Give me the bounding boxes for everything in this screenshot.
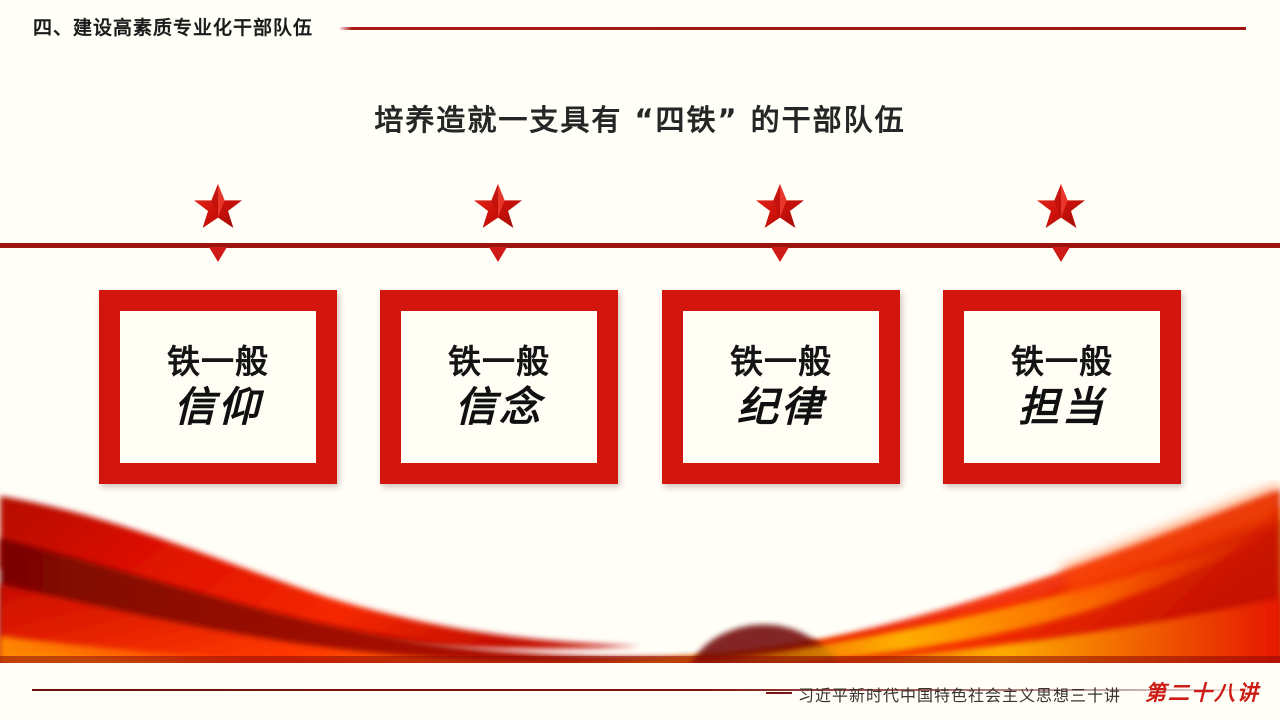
value-box-line1: 铁一般 <box>730 345 832 380</box>
down-arrow-icon <box>771 247 789 262</box>
value-box-line1: 铁一般 <box>167 345 269 380</box>
footer-dash-mark <box>766 692 792 694</box>
red-star-icon <box>472 181 524 231</box>
value-box-line2: 担当 <box>1018 386 1106 429</box>
value-box-line2: 信仰 <box>174 386 262 429</box>
red-star-icon <box>192 181 244 231</box>
value-box-inner: 铁一般 担当 <box>964 311 1160 463</box>
value-box-line2: 信念 <box>455 386 543 429</box>
down-arrow-icon <box>489 247 507 262</box>
horizontal-connector-line <box>0 243 1280 248</box>
footer-series-title: 习近平新时代中国特色社会主义思想三十讲 <box>798 682 1121 706</box>
footer-lecture-number: 第二十八讲 <box>1145 677 1260 707</box>
section-title: 四、建设高素质专业化干部队伍 <box>33 13 313 40</box>
value-box-line1: 铁一般 <box>1011 345 1113 380</box>
page-title: 培养造就一支具有 “四铁” 的干部队伍 <box>0 97 1280 139</box>
value-box-discipline[interactable]: 铁一般 纪律 <box>662 290 900 484</box>
red-star-icon <box>754 181 806 231</box>
value-box-inner: 铁一般 信念 <box>401 311 597 463</box>
slide-header: 四、建设高素质专业化干部队伍 <box>0 0 1280 52</box>
value-box-line1: 铁一般 <box>448 345 550 380</box>
value-box-responsibility[interactable]: 铁一般 担当 <box>943 290 1181 484</box>
value-box-conviction[interactable]: 铁一般 信念 <box>380 290 618 484</box>
value-box-line2: 纪律 <box>737 386 825 429</box>
red-silk-ribbon-wave <box>0 480 1280 670</box>
down-arrow-icon <box>209 247 227 262</box>
value-box-inner: 铁一般 纪律 <box>683 311 879 463</box>
slide-canvas: 四、建设高素质专业化干部队伍 培养造就一支具有 “四铁” 的干部队伍 <box>0 0 1280 720</box>
value-box-belief[interactable]: 铁一般 信仰 <box>99 290 337 484</box>
header-divider-rule <box>340 27 1246 30</box>
red-star-icon <box>1035 181 1087 231</box>
value-box-inner: 铁一般 信仰 <box>120 311 316 463</box>
down-arrow-icon <box>1052 247 1070 262</box>
